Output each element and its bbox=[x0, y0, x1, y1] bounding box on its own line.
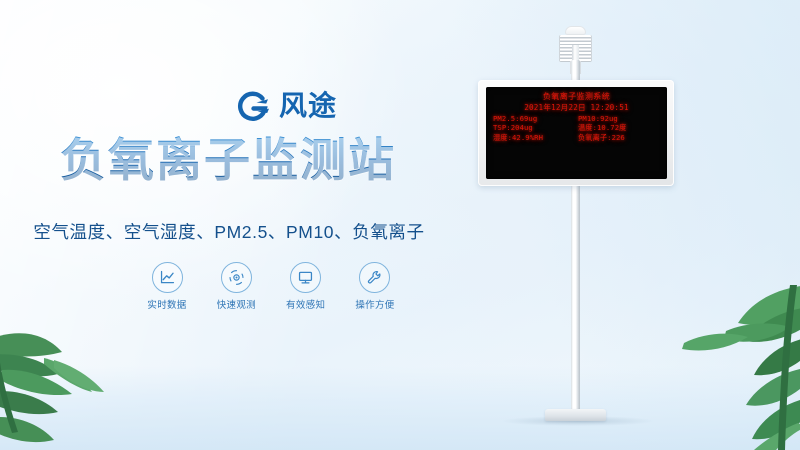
radar-observation-icon bbox=[221, 262, 252, 293]
monitoring-station: 负氧离子监测系统 2021年12月22日 12:20:51 PM2.5:69ug… bbox=[450, 0, 800, 450]
display-title: 负氧离子监测系统 bbox=[493, 92, 660, 103]
brand-logo: 风途 bbox=[232, 86, 337, 126]
reading-temperature: 温度:10.72度 bbox=[575, 123, 660, 133]
reading-row: TSP:204ug 温度:10.72度 bbox=[493, 123, 660, 133]
brand-name: 风途 bbox=[279, 92, 337, 120]
wrench-icon bbox=[359, 262, 390, 293]
led-display-frame: 负氧离子监测系统 2021年12月22日 12:20:51 PM2.5:69ug… bbox=[478, 80, 674, 186]
reading-tsp: TSP:204ug bbox=[493, 123, 575, 133]
line-chart-icon bbox=[152, 262, 183, 293]
feature-item-effective-sensing: 有效感知 bbox=[279, 262, 333, 311]
display-readings: PM2.5:69ug PM10:92ug TSP:204ug 温度:10.72度… bbox=[493, 114, 660, 143]
hero-content: 风途 负氧离子监测站 空气温度、空气湿度、PM2.5、PM10、负氧离子 实时数… bbox=[0, 0, 470, 450]
reading-pm25: PM2.5:69ug bbox=[493, 114, 575, 124]
reading-row: PM2.5:69ug PM10:92ug bbox=[493, 114, 660, 124]
feature-label: 实时数据 bbox=[147, 297, 186, 311]
sensor-cap bbox=[565, 26, 586, 35]
fengtu-g-logo-icon bbox=[232, 86, 272, 126]
led-display-screen[interactable]: 负氧离子监测系统 2021年12月22日 12:20:51 PM2.5:69ug… bbox=[486, 87, 667, 179]
reading-row: 湿度:42.9%RH 负氧离子:226 bbox=[493, 133, 660, 143]
reading-negative-oxygen-ion: 负氧离子:226 bbox=[575, 133, 660, 143]
display-datetime: 2021年12月22日 12:20:51 bbox=[493, 103, 660, 113]
feature-item-realtime-data: 实时数据 bbox=[140, 262, 194, 311]
pole-base-plate bbox=[545, 409, 606, 421]
monitor-icon bbox=[290, 262, 321, 293]
promo-banner: 风途 负氧离子监测站 空气温度、空气湿度、PM2.5、PM10、负氧离子 实时数… bbox=[0, 0, 800, 450]
feature-label: 操作方便 bbox=[355, 297, 394, 311]
feature-item-easy-operation: 操作方便 bbox=[348, 262, 402, 311]
reading-humidity: 湿度:42.9%RH bbox=[493, 133, 575, 143]
reading-pm10: PM10:92ug bbox=[575, 114, 660, 124]
feature-item-fast-observation: 快速观测 bbox=[209, 262, 263, 311]
feature-list: 实时数据 快速观测 bbox=[140, 262, 402, 311]
feature-label: 有效感知 bbox=[286, 297, 325, 311]
page-subtitle: 空气温度、空气湿度、PM2.5、PM10、负氧离子 bbox=[0, 219, 470, 244]
feature-label: 快速观测 bbox=[217, 297, 256, 311]
page-title: 负氧离子监测站 bbox=[0, 136, 470, 186]
